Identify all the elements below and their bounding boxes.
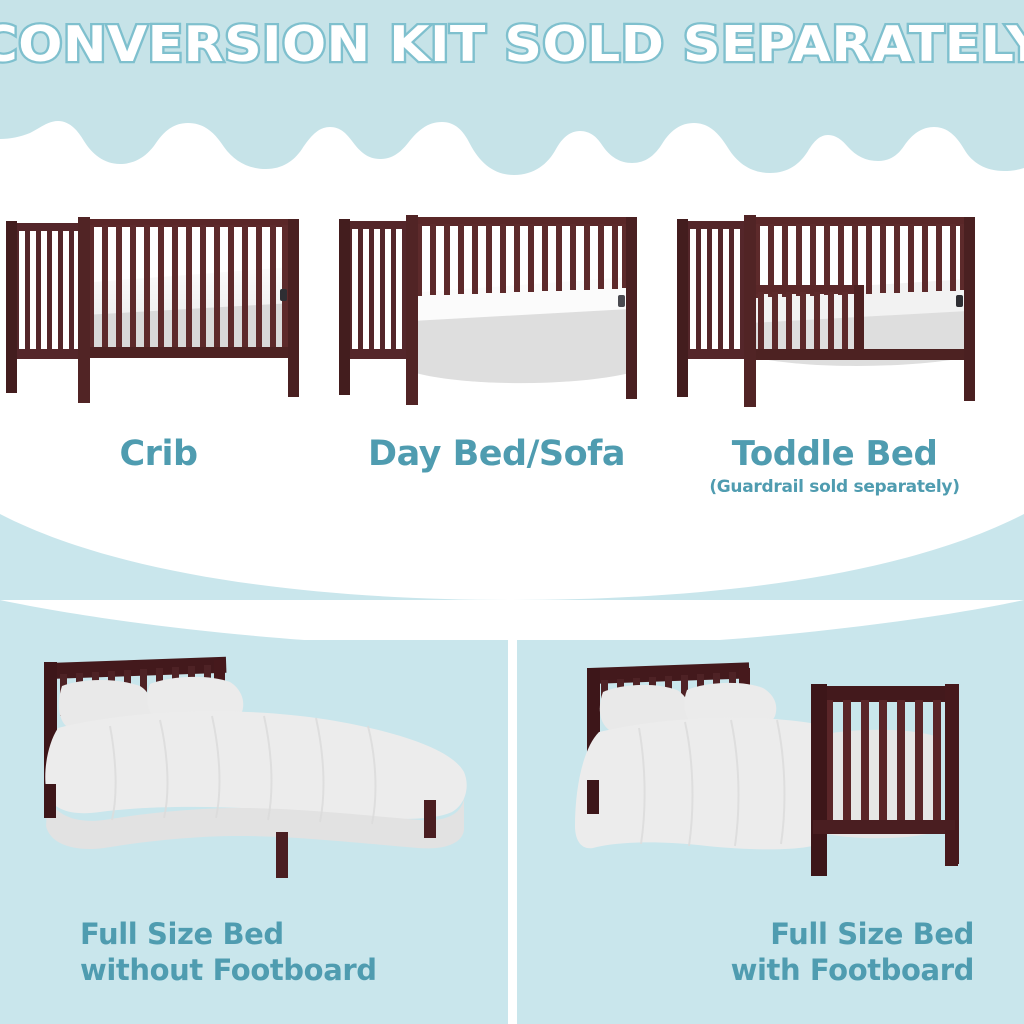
toddler-bed-illustration [668, 197, 1001, 427]
full-bed-label-with-footboard: Full Size Bed with Footboard [517, 916, 1024, 988]
stage-label-toddle-bed: Toddle Bed [668, 433, 1001, 475]
stage-label-day-bed: Day Bed/Sofa [330, 433, 663, 475]
cloud-scallop-divider [0, 87, 1024, 175]
header-banner: CONVERSION KIT SOLD SEPARATELY [0, 0, 1024, 175]
full-bed-label-without-footboard: Full Size Bed without Footboard [0, 916, 508, 988]
full-bed-section: Full Size Bed without Footboard [0, 600, 1024, 1024]
day-bed-illustration [330, 197, 663, 427]
full-bed-label-line1: Full Size Bed [80, 916, 508, 952]
full-bed-panel-without-footboard[interactable]: Full Size Bed without Footboard [0, 600, 508, 1024]
full-bed-headboard-only-illustration [0, 608, 508, 908]
full-bed-label-line1: Full Size Bed [517, 916, 974, 952]
stage-label-crib: Crib [0, 433, 325, 475]
crib-illustration [0, 197, 325, 427]
full-bed-label-line2: with Footboard [517, 952, 974, 988]
infographic-page: CONVERSION KIT SOLD SEPARATELY [0, 0, 1024, 1024]
full-bed-panel-with-footboard[interactable]: Full Size Bed with Footboard [517, 600, 1024, 1024]
page-title: CONVERSION KIT SOLD SEPARATELY [0, 16, 1024, 74]
conversion-stages-section: Crib [0, 175, 1024, 600]
section-curve-divider [0, 480, 1024, 600]
full-bed-label-line2: without Footboard [80, 952, 508, 988]
full-bed-headboard-and-footboard-illustration [517, 608, 1024, 908]
